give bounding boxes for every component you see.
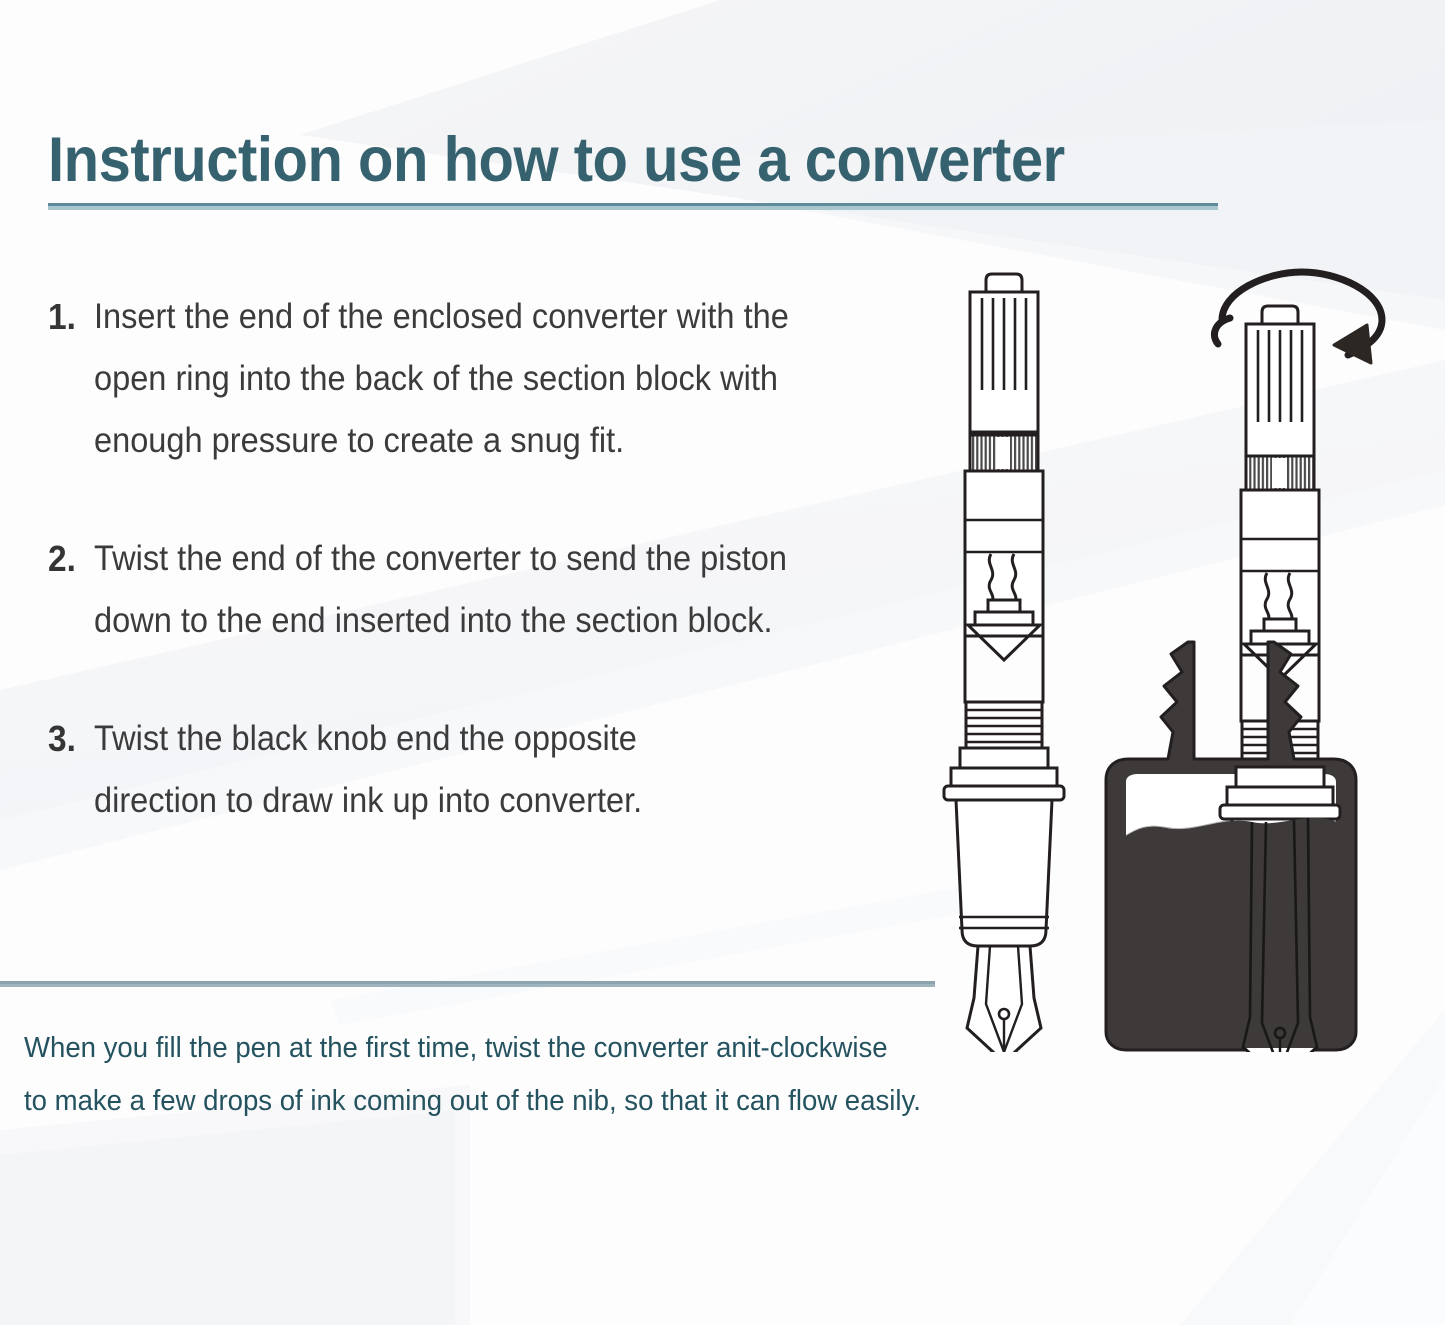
twist-knob-tab: [1262, 306, 1298, 324]
step-text-line: Twist the black knob end the opposite: [94, 708, 642, 770]
footer-note: When you fill the pen at the first time,…: [24, 1022, 974, 1128]
step-text-line: Insert the end of the enclosed converter…: [94, 286, 789, 348]
page-title-block: Instruction on how to use a converter: [48, 126, 1153, 194]
nib: [967, 946, 1041, 1052]
section-collar: [944, 748, 1064, 800]
step-text: Twist the black knob end the opposite di…: [94, 708, 642, 832]
footer-note-line: to make a few drops of ink coming out of…: [24, 1075, 974, 1128]
instruction-step-list: 1. Insert the end of the enclosed conver…: [48, 286, 948, 832]
nib-breather-hole: [999, 1009, 1009, 1019]
instruction-step: 1. Insert the end of the enclosed conver…: [48, 286, 948, 472]
step-number: 3.: [48, 708, 91, 770]
twist-knob: [1246, 324, 1314, 464]
step-text: Twist the end of the converter to send t…: [94, 528, 787, 652]
nib-breather-hole: [1275, 1028, 1285, 1038]
ink-over-nib: [1126, 818, 1336, 1048]
nib-in-ink: [1126, 818, 1336, 1052]
step-text-line: Twist the end of the converter to send t…: [94, 528, 787, 590]
step-text-line: down to the end inserted into the sectio…: [94, 590, 787, 652]
step-text-line: open ring into the back of the section b…: [94, 348, 789, 410]
threaded-base: [966, 702, 1042, 748]
step-number: 1.: [48, 286, 91, 348]
page-title: Instruction on how to use a converter: [48, 126, 1065, 194]
left-pen-figure: [944, 274, 1064, 1052]
footer-divider-rule: [0, 981, 935, 987]
step-number: 2.: [48, 528, 91, 590]
pen-converter-illustration: [930, 262, 1445, 1052]
footer-note-line: When you fill the pen at the first time,…: [24, 1022, 974, 1075]
title-underline-rule: [48, 203, 1218, 210]
instruction-step: 3. Twist the black knob end the opposite…: [48, 708, 948, 832]
grip-section: [956, 800, 1052, 946]
step-text-line: direction to draw ink up into converter.: [94, 770, 642, 832]
step-text: Insert the end of the enclosed converter…: [94, 286, 789, 472]
twist-knob: [970, 292, 1038, 432]
twist-knob-tab: [986, 274, 1022, 292]
section-collar: [1220, 767, 1340, 819]
step-text-line: enough pressure to create a snug fit.: [94, 410, 789, 472]
instruction-step: 2. Twist the end of the converter to sen…: [48, 528, 948, 652]
knurled-ring-band: [970, 435, 1038, 471]
knurled-ring-band: [1246, 456, 1314, 490]
